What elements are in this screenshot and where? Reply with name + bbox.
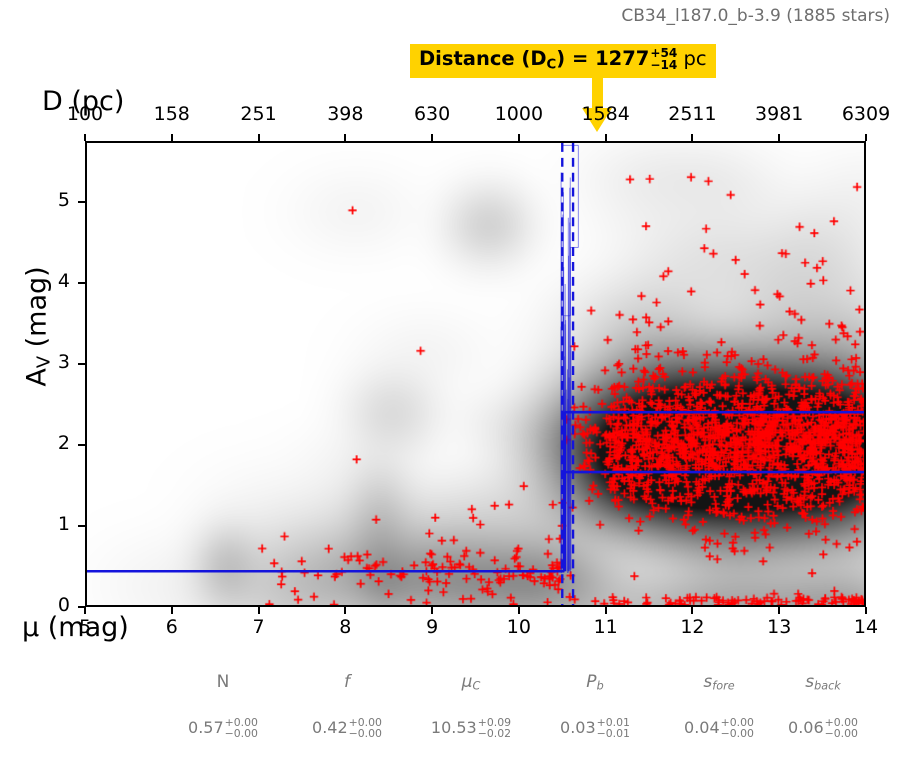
parameter-name-main: μ	[462, 672, 473, 692]
annotation-error-down: −14	[650, 59, 677, 71]
top-tick-mark	[344, 134, 346, 141]
annotation-subscript: C	[547, 58, 557, 73]
top-tick-mark	[171, 134, 173, 141]
parameter-name-main: s	[805, 672, 814, 692]
figure-title: CB34_l187.0_b-3.9 (1885 stars)	[621, 6, 890, 26]
annotation-error-pair: +54−14	[650, 47, 677, 71]
parameter-error-pair: +0.00−0.00	[825, 718, 858, 740]
figure-panel: CB34_l187.0_b-3.9 (1885 stars) Distance …	[0, 0, 902, 759]
top-tick-mark	[518, 134, 520, 141]
x-tick-label: 8	[315, 616, 375, 638]
y-tick-mark	[78, 201, 85, 203]
annotation-prefix: Distance (D	[419, 47, 547, 70]
annotation-middle: ) = 1277	[556, 47, 649, 70]
parameter-value-main: 0.06	[788, 718, 824, 737]
x-tick-mark	[778, 607, 780, 614]
top-tick-label: 158	[132, 103, 212, 125]
parameter-error-down: −0.00	[225, 729, 258, 740]
parameter-error-down: −0.00	[721, 729, 754, 740]
x-axis-label-mu: μ	[22, 612, 39, 643]
top-tick-label: 100	[45, 103, 125, 125]
y-tick-label: 4	[10, 270, 70, 292]
parameter-name: Pb	[535, 672, 655, 692]
x-tick-mark	[431, 607, 433, 614]
parameter-value-main: 0.57	[188, 718, 224, 737]
x-tick-mark	[605, 607, 607, 614]
parameter-name-main: N	[217, 672, 230, 692]
model-step-layer	[87, 143, 864, 605]
top-tick-label: 1000	[479, 103, 559, 125]
parameter-value-main: 0.04	[684, 718, 720, 737]
y-tick-mark	[78, 363, 85, 365]
x-tick-label: 12	[662, 616, 722, 638]
parameter-value: 10.53+0.09−0.02	[411, 718, 531, 740]
x-tick-label: 11	[576, 616, 636, 638]
x-tick-mark	[518, 607, 520, 614]
parameter-summary-table: N0.57+0.00−0.00f0.42+0.00−0.00μC10.53+0.…	[85, 672, 885, 752]
parameter-name-subscript: C	[472, 679, 480, 692]
top-tick-label: 3981	[739, 103, 819, 125]
parameter-value: 0.57+0.00−0.00	[163, 718, 283, 740]
top-tick-label: 251	[219, 103, 299, 125]
parameter-error-down: −0.00	[825, 729, 858, 740]
parameter-name-subscript: fore	[712, 679, 734, 692]
x-tick-label: 14	[836, 616, 896, 638]
parameter-value-main: 10.53	[431, 718, 477, 737]
x-tick-label: 5	[55, 616, 115, 638]
parameter-name: sfore	[659, 672, 779, 692]
top-tick-mark	[84, 134, 86, 141]
parameter-value-main: 0.03	[560, 718, 596, 737]
parameter-error-down: −0.02	[478, 729, 511, 740]
x-tick-label: 7	[229, 616, 289, 638]
annotation-unit: pc	[677, 47, 706, 70]
y-tick-label: 1	[10, 513, 70, 535]
parameter-name-main: s	[703, 672, 712, 692]
parameter-name-subscript: back	[814, 679, 841, 692]
y-tick-label: 3	[10, 351, 70, 373]
parameter-name-main: P	[586, 672, 596, 692]
parameter-error-pair: +0.01−0.01	[597, 718, 630, 740]
parameter-name: μC	[411, 672, 531, 692]
parameter-name: N	[163, 672, 283, 692]
parameter-error-pair: +0.09−0.02	[478, 718, 511, 740]
plot-area	[85, 141, 866, 607]
y-tick-label: 5	[10, 189, 70, 211]
x-tick-label: 13	[749, 616, 809, 638]
y-tick-mark	[78, 282, 85, 284]
y-tick-label: 2	[10, 432, 70, 454]
y-tick-label: 0	[10, 594, 70, 616]
parameter-name-subscript: b	[597, 679, 604, 692]
parameter-name-main: f	[344, 672, 350, 692]
distance-annotation-box: Distance (DC) = 1277+54−14 pc	[410, 44, 716, 78]
y-axis-label: AV (mag)	[22, 226, 55, 426]
top-tick-mark	[431, 134, 433, 141]
top-tick-mark	[258, 134, 260, 141]
x-tick-mark	[258, 607, 260, 614]
parameter-value: 0.06+0.00−0.00	[763, 718, 883, 740]
top-tick-mark	[691, 134, 693, 141]
parameter-error-pair: +0.00−0.00	[349, 718, 382, 740]
x-tick-mark	[84, 607, 86, 614]
parameter-name: sback	[763, 672, 883, 692]
parameter-error-pair: +0.00−0.00	[721, 718, 754, 740]
y-tick-mark	[78, 444, 85, 446]
top-tick-label: 6309	[826, 103, 902, 125]
x-tick-label: 6	[142, 616, 202, 638]
x-tick-label: 9	[402, 616, 462, 638]
parameter-value: 0.42+0.00−0.00	[287, 718, 407, 740]
top-tick-label: 2511	[652, 103, 732, 125]
x-tick-mark	[865, 607, 867, 614]
parameter-error-down: −0.01	[597, 729, 630, 740]
parameter-name: f	[287, 672, 407, 692]
x-tick-label: 10	[489, 616, 549, 638]
parameter-value-main: 0.42	[312, 718, 348, 737]
y-tick-mark	[78, 606, 85, 608]
parameter-error-pair: +0.00−0.00	[225, 718, 258, 740]
parameter-error-down: −0.00	[349, 729, 382, 740]
top-tick-mark	[778, 134, 780, 141]
top-tick-label: 630	[392, 103, 472, 125]
top-tick-label: 398	[305, 103, 385, 125]
x-tick-mark	[171, 607, 173, 614]
y-tick-mark	[78, 525, 85, 527]
top-tick-label: 1584	[566, 103, 646, 125]
top-tick-mark	[605, 134, 607, 141]
parameter-value: 0.03+0.01−0.01	[535, 718, 655, 740]
x-tick-mark	[344, 607, 346, 614]
top-tick-mark	[865, 134, 867, 141]
x-tick-mark	[691, 607, 693, 614]
parameter-value: 0.04+0.00−0.00	[659, 718, 779, 740]
